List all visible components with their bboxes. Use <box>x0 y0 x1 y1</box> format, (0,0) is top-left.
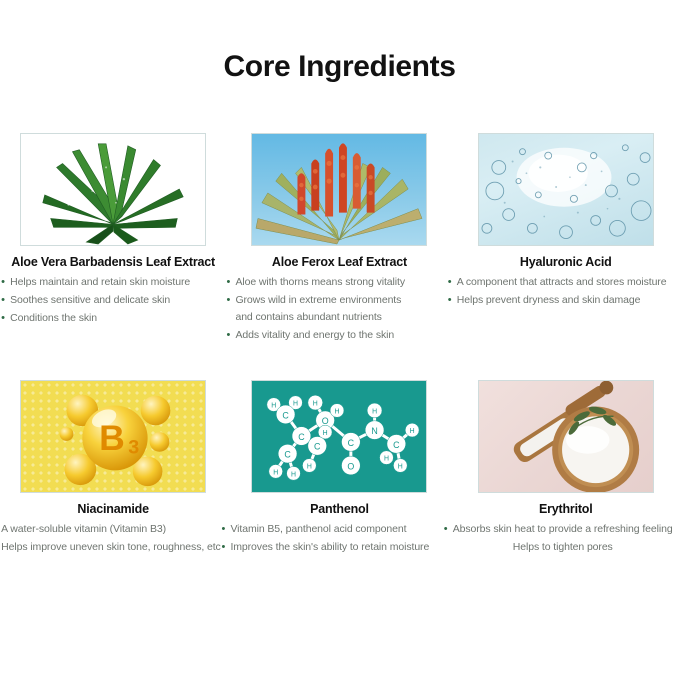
ingredient-card-niacinamide: B 3 Niacinamide A water-soluble vitamin … <box>0 380 226 557</box>
list-item: Conditions the skin <box>1 310 233 327</box>
thumbnail-wrap <box>226 133 452 246</box>
svg-text:H: H <box>272 403 277 410</box>
list-item: Helps prevent dryness and skin damage <box>448 292 679 309</box>
page-title: Core Ingredients <box>0 50 679 84</box>
aloe-vera-illustration <box>21 134 205 245</box>
thumbnail-wrap <box>453 380 679 493</box>
list-item: Improves the skin's ability to retain mo… <box>221 539 455 556</box>
ingredient-title: Aloe Vera Barbadensis Leaf Extract <box>11 255 215 269</box>
list-item: Helps maintain and retain skin moisture <box>1 274 233 291</box>
list-item: Absorbs skin heat to provide a refreshin… <box>444 521 679 538</box>
list-item-unbulleted: Helps to tighten pores <box>444 539 679 556</box>
ingredient-title: Hyaluronic Acid <box>520 255 612 269</box>
list-item: A water-soluble vitamin (Vitamin B3) <box>0 521 230 538</box>
svg-text:C: C <box>283 410 290 420</box>
ingredient-benefit-list: Helps maintain and retain skin moisture … <box>1 274 233 328</box>
ingredient-card-aloe-ferox: Aloe Ferox Leaf Extract Aloe with thorns… <box>226 133 452 345</box>
svg-text:C: C <box>299 432 306 442</box>
svg-text:C: C <box>348 438 355 448</box>
svg-text:H: H <box>410 428 415 435</box>
ingredient-card-aloe-vera: Aloe Vera Barbadensis Leaf Extract Helps… <box>0 133 226 345</box>
aloe-ferox-flower-photo <box>251 133 427 246</box>
ingredient-benefit-list: Aloe with thorns means strong vitality G… <box>226 274 458 345</box>
molecule-structure-graphic: HH C H O H C H C HH C H C O <box>251 380 427 493</box>
ingredient-benefit-list: Absorbs skin heat to provide a refreshin… <box>444 521 679 557</box>
molecule-illustration: HH C H O H C H C HH C H C O <box>252 381 426 492</box>
svg-text:N: N <box>372 426 378 436</box>
list-item: Vitamin B5, panthenol acid component <box>221 521 455 538</box>
core-ingredients-page: Core Ingredients <box>0 0 679 679</box>
ingredient-title: Erythritol <box>539 502 593 516</box>
ingredient-title: Panthenol <box>310 502 369 516</box>
list-item: Adds vitality and energy to the skin <box>226 327 458 344</box>
svg-text:H: H <box>291 471 296 478</box>
ingredient-benefit-list: A water-soluble vitamin (Vitamin B3) Hel… <box>0 521 230 557</box>
svg-text:3: 3 <box>128 437 139 459</box>
thumbnail-wrap: B 3 <box>0 380 226 493</box>
aloe-vera-plant-photo <box>20 133 206 246</box>
list-item: Soothes sensitive and delicate skin <box>1 292 233 309</box>
vitamin-b3-droplet-graphic: B 3 <box>20 380 206 493</box>
ingredient-card-panthenol: HH C H O H C H C HH C H C O <box>226 380 452 557</box>
list-item: Helps improve uneven skin tone, roughnes… <box>0 539 230 556</box>
svg-text:H: H <box>335 408 340 415</box>
thumbnail-wrap <box>453 133 679 246</box>
svg-text:C: C <box>285 450 292 460</box>
ingredient-benefit-list: Vitamin B5, panthenol acid component Imp… <box>221 521 455 557</box>
svg-text:H: H <box>384 456 389 463</box>
svg-text:C: C <box>314 442 321 452</box>
ingredient-benefit-list: A component that attracts and stores moi… <box>448 274 679 310</box>
svg-text:H: H <box>313 401 318 408</box>
list-item: A component that attracts and stores moi… <box>448 274 679 291</box>
svg-text:H: H <box>293 401 298 408</box>
ingredient-card-erythritol: Erythritol Absorbs skin heat to provide … <box>453 380 679 557</box>
svg-text:H: H <box>373 408 378 415</box>
thumbnail-wrap <box>0 133 226 246</box>
thumbnail-wrap: HH C H O H C H C HH C H C O <box>226 380 452 493</box>
water-bubbles-illustration <box>479 134 653 245</box>
powder-scoop-illustration <box>479 381 653 492</box>
svg-text:H: H <box>323 430 328 437</box>
svg-text:H: H <box>307 463 312 470</box>
b3-label: B <box>99 418 125 458</box>
svg-text:H: H <box>398 463 403 470</box>
svg-text:O: O <box>322 416 329 426</box>
aloe-ferox-illustration <box>252 134 426 245</box>
powder-scoop-bowl-photo <box>478 380 654 493</box>
svg-text:C: C <box>394 440 401 450</box>
list-item-text: Grows wild in extreme environments <box>235 294 401 306</box>
ingredient-row-bottom: B 3 Niacinamide A water-soluble vitamin … <box>0 380 679 557</box>
ingredient-card-hyaluronic-acid: Hyaluronic Acid A component that attract… <box>453 133 679 345</box>
list-item: Aloe with thorns means strong vitality <box>226 274 458 291</box>
list-item-continuation: and contains abundant nutrients <box>235 309 458 326</box>
b3-droplet-illustration: B 3 <box>21 381 205 492</box>
svg-text:O: O <box>348 461 355 471</box>
ingredient-title: Aloe Ferox Leaf Extract <box>272 255 407 269</box>
water-bubbles-photo <box>478 133 654 246</box>
ingredient-row-top: Aloe Vera Barbadensis Leaf Extract Helps… <box>0 133 679 345</box>
ingredient-title: Niacinamide <box>77 502 148 516</box>
list-item: Grows wild in extreme environmentsand co… <box>226 292 458 326</box>
svg-text:H: H <box>274 469 279 476</box>
